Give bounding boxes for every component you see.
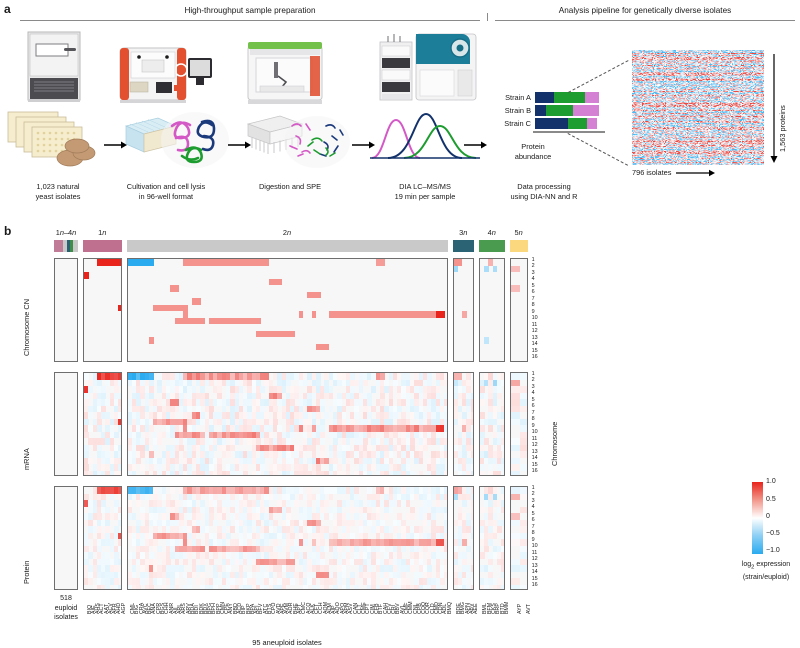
heatmap-cell <box>118 559 121 566</box>
chromosome-tick: 5 <box>532 397 535 403</box>
bar-a-seg3 <box>585 92 599 103</box>
chromosome-tick: 2 <box>532 263 535 269</box>
heatmap-mrna-g4n <box>479 372 505 476</box>
heatmap-cell <box>118 494 121 501</box>
heatmap-cell <box>145 471 150 477</box>
legend-tick-3: −0.5 <box>766 530 780 537</box>
heatmap-cell <box>282 585 287 591</box>
chromosome-tick: 14 <box>532 569 538 575</box>
heatmap-cell <box>501 507 504 514</box>
heatmap-cell <box>324 344 329 351</box>
step-caption-1: 1,023 naturalyeast isolates <box>8 182 108 201</box>
heatmap-cn-g5n <box>510 258 528 362</box>
chromosome-tick: 9 <box>532 423 535 429</box>
heatmap-cell <box>493 533 498 540</box>
heatmap-cell <box>175 585 180 591</box>
chromosome-tick: 4 <box>532 504 535 510</box>
heatmap-cell <box>520 565 528 572</box>
heatmap-cell <box>501 471 504 477</box>
bar-b-seg3 <box>573 105 599 116</box>
heatmap-cell <box>484 585 489 591</box>
heatmap-cell <box>187 585 192 591</box>
heatmap-cell <box>410 513 415 520</box>
heatmap-preview-right-arrow <box>769 54 779 164</box>
heatmap-cell <box>354 585 359 591</box>
x-axis-label: 95 aneuploid isolates <box>127 638 448 648</box>
heatmap-cell <box>511 471 520 477</box>
heatmap-cell <box>444 546 447 553</box>
heatmap-mrna-euploid <box>54 372 78 476</box>
heatmap-cell <box>371 386 376 393</box>
chromosome-tick: 13 <box>532 335 538 341</box>
heatmap-protein-euploid <box>54 486 78 590</box>
legend-title: log2 expression(strain/euploid) <box>734 560 798 582</box>
heatmap-cell <box>384 513 389 520</box>
panel-a-title-right: Analysis pipeline for genetically divers… <box>495 6 795 15</box>
heatmap-cell <box>136 585 141 591</box>
chromosome-tick: 12 <box>532 328 538 334</box>
heatmap-cell <box>389 507 394 514</box>
chromosome-tick: 4 <box>532 276 535 282</box>
heatmap-cn-g3n <box>453 258 474 362</box>
bar-c-seg2 <box>568 118 587 129</box>
chromosome-tick: 11 <box>532 436 538 442</box>
bar-a-seg2 <box>554 92 585 103</box>
heatmap-cell <box>520 406 528 413</box>
heatmap-cell <box>264 259 269 266</box>
heatmap-cell <box>484 266 489 273</box>
strain-tick: BMM <box>504 602 510 614</box>
heatmap-cell <box>471 539 474 546</box>
protein-abundance-label: Proteinabundance <box>497 142 569 161</box>
chromosome-tick: 2 <box>532 491 535 497</box>
heatmap-cell <box>471 565 474 572</box>
heatmap-cell <box>316 292 321 299</box>
step-caption-4: DIA LC–MS/MS19 min per sample <box>372 182 478 201</box>
row-panel-label-cn: Chromosome CN <box>22 299 31 356</box>
chromosome-tick: 9 <box>532 537 535 543</box>
strain-tick: BMQ <box>447 602 453 614</box>
heatmap-cell <box>200 318 205 325</box>
heatmap-cell <box>324 412 329 419</box>
heatmap-cell <box>471 585 474 591</box>
heatmap-cell <box>501 520 504 527</box>
heatmap-cell <box>260 386 265 393</box>
heatmap-protein-g5n <box>510 486 528 590</box>
chromosome-tick: 14 <box>532 341 538 347</box>
chromosome-tick: 8 <box>532 302 535 308</box>
chromosome-tick: 13 <box>532 563 538 569</box>
arrow-4-icon <box>464 140 488 150</box>
panel-a-rule-left <box>20 20 480 21</box>
heatmap-cn-g2n <box>127 258 448 362</box>
heatmap-cell <box>462 500 467 507</box>
panel-a-rule-right <box>495 20 795 21</box>
heatmap-cell <box>243 471 248 477</box>
chromosome-tick: 16 <box>532 582 538 588</box>
strain-tick: AEE <box>473 603 479 614</box>
heatmap-cell <box>346 471 351 477</box>
chromosome-tick: 10 <box>532 429 538 435</box>
heatmap-cell <box>480 471 485 477</box>
heatmap-cell <box>153 445 158 452</box>
heatmap-cell <box>520 507 528 514</box>
heatmap-cell <box>256 471 261 477</box>
protein-structure-icon <box>160 108 230 170</box>
chromosome-tick: 13 <box>532 449 538 455</box>
chromosome-tick: 1 <box>532 257 535 263</box>
heatmap-cell <box>501 585 504 591</box>
group-bar-euploid <box>54 240 78 252</box>
heatmap-cell <box>511 585 520 591</box>
heatmap-cell <box>118 425 121 432</box>
heatmap-cell <box>303 585 308 591</box>
heatmap-cell <box>511 266 520 273</box>
heatmap-cell <box>350 520 355 527</box>
heatmap-preview-bottom: 796 isolates <box>632 168 716 177</box>
heatmap-cell <box>118 546 121 553</box>
heatmap-cell <box>277 279 282 286</box>
chromosome-tick: 3 <box>532 270 535 276</box>
heatmap-cell <box>471 471 474 477</box>
legend-tick-4: −1.0 <box>766 547 780 554</box>
heatmap-cell <box>480 399 485 406</box>
heatmap-cell <box>436 585 441 591</box>
heatmap-preview-bottom-label: 796 isolates <box>632 168 671 177</box>
heatmap-cell <box>493 266 498 273</box>
heatmap-cell <box>501 425 504 432</box>
heatmap-cell <box>501 380 504 387</box>
chromosome-tick: 5 <box>532 283 535 289</box>
heatmap-cell <box>149 337 154 344</box>
heatmap-cell <box>105 585 110 591</box>
group-bar-g5n <box>510 240 528 252</box>
heatmap-protein-g4n <box>479 486 505 590</box>
heatmap-cell <box>462 311 467 318</box>
heatmap-cell <box>114 432 119 439</box>
heatmap-cell <box>501 572 504 579</box>
heatmap-cell <box>118 380 121 387</box>
heatmap-cell <box>277 546 282 553</box>
heatmap-cell <box>423 445 428 452</box>
bar-b-seg2 <box>546 105 573 116</box>
heatmap-cell <box>440 311 445 318</box>
row-panel-label-protein: Protein <box>22 561 31 584</box>
step-caption-5: Data processingusing DIA-NN and R <box>490 182 598 201</box>
heatmap-cell <box>162 585 167 591</box>
heatmap-cell <box>520 494 528 501</box>
group-bar-g3n <box>453 240 474 252</box>
step-caption-2: Cultivation and cell lysisin 96-well for… <box>110 182 222 201</box>
heatmap-cell <box>511 419 520 426</box>
heatmap-cell <box>213 552 218 559</box>
heatmap-cell <box>444 451 447 458</box>
heatmap-cell <box>290 432 295 439</box>
chromosome-tick: 3 <box>532 498 535 504</box>
heatmap-cell <box>132 471 137 477</box>
heatmap-cell <box>118 471 121 477</box>
chromosome-tick: 2 <box>532 377 535 383</box>
connector-bottom <box>568 133 629 166</box>
heatmap-cell <box>444 471 447 477</box>
chromosome-tick: 3 <box>532 384 535 390</box>
chromosome-tick: 11 <box>532 322 538 328</box>
heatmap-cell <box>471 373 474 380</box>
panel-b-heatmaps: 1n–4n1n2n3n4n5nChromosome CN123456789101… <box>0 232 800 620</box>
heatmap-cell <box>239 438 244 445</box>
chromosome-tick: 8 <box>532 530 535 536</box>
heatmap-cell <box>511 520 520 527</box>
liquid-handler-icon <box>112 36 217 108</box>
heatmap-cell <box>118 259 121 266</box>
strain-tick: AYP <box>517 604 523 614</box>
heatmap-cell <box>520 464 528 471</box>
heatmap-cell <box>157 438 162 445</box>
heatmap-cell <box>118 305 121 312</box>
heatmap-cell <box>501 445 504 452</box>
heatmap-cell <box>484 337 489 344</box>
chromosome-tick: 16 <box>532 468 538 474</box>
heatmap-cell <box>419 458 424 465</box>
heatmap-cell <box>149 585 154 591</box>
chromosome-tick: 1 <box>532 485 535 491</box>
legend-tick-1: 0.5 <box>766 496 776 503</box>
group-bar-g2n <box>127 240 448 252</box>
heatmap-cell <box>256 318 261 325</box>
group-bar-g4n <box>479 240 505 252</box>
heatmap-cell <box>273 471 278 477</box>
heatmap-cell <box>290 331 295 338</box>
heatmap-cell <box>170 487 175 494</box>
peptide-fragments-icon <box>282 112 352 170</box>
chromosome-tick: 1 <box>532 371 535 377</box>
heatmap-mrna-g5n <box>510 372 528 476</box>
chromosome-tick: 12 <box>532 442 538 448</box>
chromosome-tick: 4 <box>532 390 535 396</box>
heatmap-cell <box>183 559 188 566</box>
lc-ms-instrument-icon <box>376 28 480 108</box>
heatmap-cell <box>520 451 528 458</box>
heatmap-preview <box>632 50 764 165</box>
heatmap-cell <box>520 585 528 591</box>
group-label-g5n: 5n <box>490 228 548 237</box>
heatmap-cell <box>471 513 474 520</box>
legend-tick-0: 1.0 <box>766 478 776 485</box>
group-label-g2n: 2n <box>107 228 468 237</box>
heatmap-cell <box>440 578 445 585</box>
heatmap-cell <box>84 272 89 279</box>
chromosome-tick: 10 <box>532 543 538 549</box>
heatmap-cell <box>303 539 308 546</box>
heatmap-cell <box>410 471 415 477</box>
bar-c-seg3 <box>587 118 597 129</box>
heatmap-cell <box>118 585 121 591</box>
chromosome-tick: 6 <box>532 403 535 409</box>
heatmap-cell <box>511 494 520 501</box>
chromosome-tick: 12 <box>532 556 538 562</box>
heatmap-cn-euploid <box>54 258 78 362</box>
panel-a-divider <box>487 13 488 21</box>
heatmap-cell <box>312 311 317 318</box>
chromosome-tick: 5 <box>532 511 535 517</box>
heatmap-cell <box>511 445 520 452</box>
heatmap-cell <box>380 259 385 266</box>
group-bar-g1n <box>83 240 122 252</box>
heatmap-cell <box>367 471 372 477</box>
chromosome-tick: 6 <box>532 517 535 523</box>
heatmap-cell <box>299 311 304 318</box>
chromosome-tick: 9 <box>532 309 535 315</box>
chromosome-tick: 7 <box>532 410 535 416</box>
bar-b-seg1 <box>535 105 546 116</box>
heatmap-cn-g4n <box>479 258 505 362</box>
chromosome-tick: 6 <box>532 289 535 295</box>
bar-c-seg1 <box>535 118 568 129</box>
heatmap-cell <box>520 373 528 380</box>
chromosome-tick: 8 <box>532 416 535 422</box>
heatmap-protein-g1n <box>83 486 122 590</box>
euploid-caption: 518euploidisolates <box>40 594 92 623</box>
chromosome-tick: 10 <box>532 315 538 321</box>
heatmap-cell <box>213 585 218 591</box>
heatmap-mrna-g3n <box>453 372 474 476</box>
heatmap-cell <box>458 259 463 266</box>
heatmap-preview-right-label: 1,563 proteins <box>778 105 787 152</box>
heatmap-protein-g3n <box>453 486 474 590</box>
heatmap-cell <box>149 259 154 266</box>
heatmap-cell <box>511 285 520 292</box>
heatmap-cell <box>419 471 424 477</box>
heatmap-cell <box>401 546 406 553</box>
panel-a-title-left: High-throughput sample preparation <box>20 6 480 15</box>
chromosome-tick: 11 <box>532 550 538 556</box>
chromosome-axis-label: Chromosome <box>550 422 559 466</box>
heatmap-cell <box>444 380 447 387</box>
heatmap-cell <box>196 298 201 305</box>
heatmap-mrna-g1n <box>83 372 122 476</box>
heatmap-mrna-g2n <box>127 372 448 476</box>
heatmap-cell <box>175 285 180 292</box>
heatmap-cell <box>454 266 459 273</box>
row-panel-label-mrna: mRNA <box>22 448 31 470</box>
chromosome-tick: 16 <box>532 354 538 360</box>
step-caption-3: Digestion and SPE <box>238 182 342 192</box>
chromosome-tick: 15 <box>532 576 538 582</box>
legend-colorbar <box>752 482 763 554</box>
chromosome-tick: 7 <box>532 524 535 530</box>
chromosome-tick: 15 <box>532 348 538 354</box>
heatmap-cell <box>444 572 447 579</box>
heatmap-protein-g2n <box>127 486 448 590</box>
heatmap-cell <box>346 585 351 591</box>
plate-stack-icon <box>4 108 104 168</box>
ultra-low-freezer-icon <box>20 30 90 105</box>
heatmap-cn-g1n <box>83 258 122 362</box>
strain-label-b: Strain B <box>487 106 531 115</box>
panel-a-letter: a <box>4 2 11 16</box>
heatmap-cell <box>511 539 520 546</box>
strain-label-c: Strain C <box>487 119 531 128</box>
robotic-workstation-icon <box>244 36 326 108</box>
heatmap-cell <box>118 572 121 579</box>
heatmap-cell <box>329 494 334 501</box>
legend-tick-2: 0 <box>766 513 770 520</box>
connector-top <box>568 60 629 93</box>
heatmap-cell <box>226 451 231 458</box>
heatmap-cell <box>480 552 485 559</box>
strain-label-a: Strain A <box>487 93 531 102</box>
chromatogram-peaks-icon <box>370 112 480 162</box>
heatmap-cell <box>511 565 520 572</box>
bar-axis-line <box>533 131 605 133</box>
heatmap-cell <box>501 412 504 419</box>
chromosome-tick: 14 <box>532 455 538 461</box>
strain-tick: AGP <box>121 603 127 614</box>
heatmap-cell <box>363 380 368 387</box>
heatmap-cell <box>444 494 447 501</box>
heatmap-cell <box>290 578 295 585</box>
heatmap-cell <box>324 585 329 591</box>
chromosome-tick: 15 <box>532 462 538 468</box>
heatmap-cell <box>118 520 121 527</box>
heatmap-cell <box>333 585 338 591</box>
strain-tick: AVT <box>526 604 532 614</box>
chromosome-tick: 7 <box>532 296 535 302</box>
bar-a-seg1 <box>535 92 554 103</box>
